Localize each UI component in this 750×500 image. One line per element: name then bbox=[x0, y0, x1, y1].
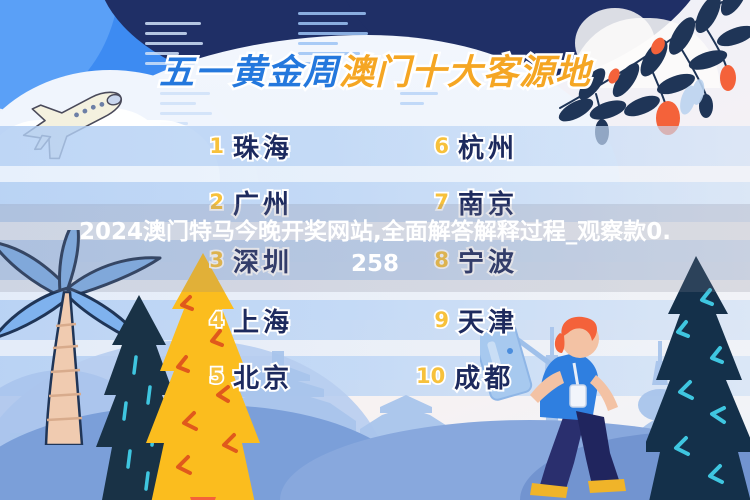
watermark-line-1: 2024澳门特马今晚开奖网站,全面解答解释过程_观察款0. bbox=[79, 216, 671, 248]
poster-canvas: 五一黄金周澳门十大客源地 1 珠海 2 广州 3 深圳 4 上海 5 北京 6 … bbox=[0, 0, 750, 500]
city-name: 成都 bbox=[454, 358, 514, 395]
rank-number: 10 bbox=[416, 364, 445, 388]
list-item: 9 天津 bbox=[425, 300, 518, 340]
list-item: 5 北京 bbox=[200, 356, 293, 396]
city-name: 珠海 bbox=[233, 128, 293, 165]
title-part-gold: 澳门十大客源地 bbox=[339, 44, 591, 95]
city-name: 天津 bbox=[458, 302, 518, 339]
rank-number: 5 bbox=[200, 364, 224, 388]
list-item: 1 珠海 bbox=[200, 126, 293, 166]
title-part-blue: 五一黄金周 bbox=[159, 44, 339, 95]
city-name: 杭州 bbox=[458, 128, 518, 165]
list-item: 10 成都 bbox=[416, 356, 514, 396]
rank-number: 9 bbox=[425, 308, 449, 332]
rank-number: 4 bbox=[200, 308, 224, 332]
watermark-text: 2024澳门特马今晚开奖网站,全面解答解释过程_观察款0. 258 bbox=[0, 204, 750, 292]
list-item: 4 上海 bbox=[200, 300, 293, 340]
poster-title: 五一黄金周澳门十大客源地 bbox=[0, 44, 750, 95]
rank-number: 1 bbox=[200, 134, 224, 158]
city-name: 北京 bbox=[233, 358, 293, 395]
list-item: 6 杭州 bbox=[425, 126, 518, 166]
city-name: 上海 bbox=[233, 302, 293, 339]
watermark-line-2: 258 bbox=[351, 248, 399, 280]
rank-number: 6 bbox=[425, 134, 449, 158]
